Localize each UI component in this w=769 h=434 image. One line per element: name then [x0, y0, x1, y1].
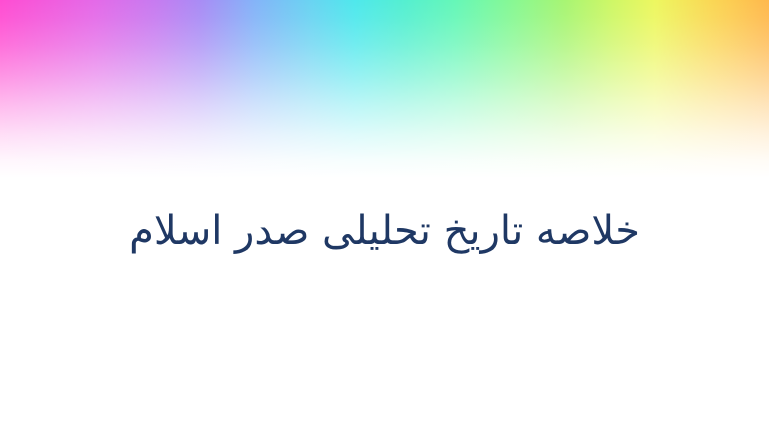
title-slide: خلاصه تاریخ تحلیلی صدر اسلام [0, 0, 769, 434]
rainbow-gradient-header [0, 0, 769, 190]
slide-title[interactable]: خلاصه تاریخ تحلیلی صدر اسلام [129, 206, 640, 257]
body-placeholder-empty [0, 275, 769, 434]
title-placeholder[interactable]: خلاصه تاریخ تحلیلی صدر اسلام [0, 192, 769, 272]
